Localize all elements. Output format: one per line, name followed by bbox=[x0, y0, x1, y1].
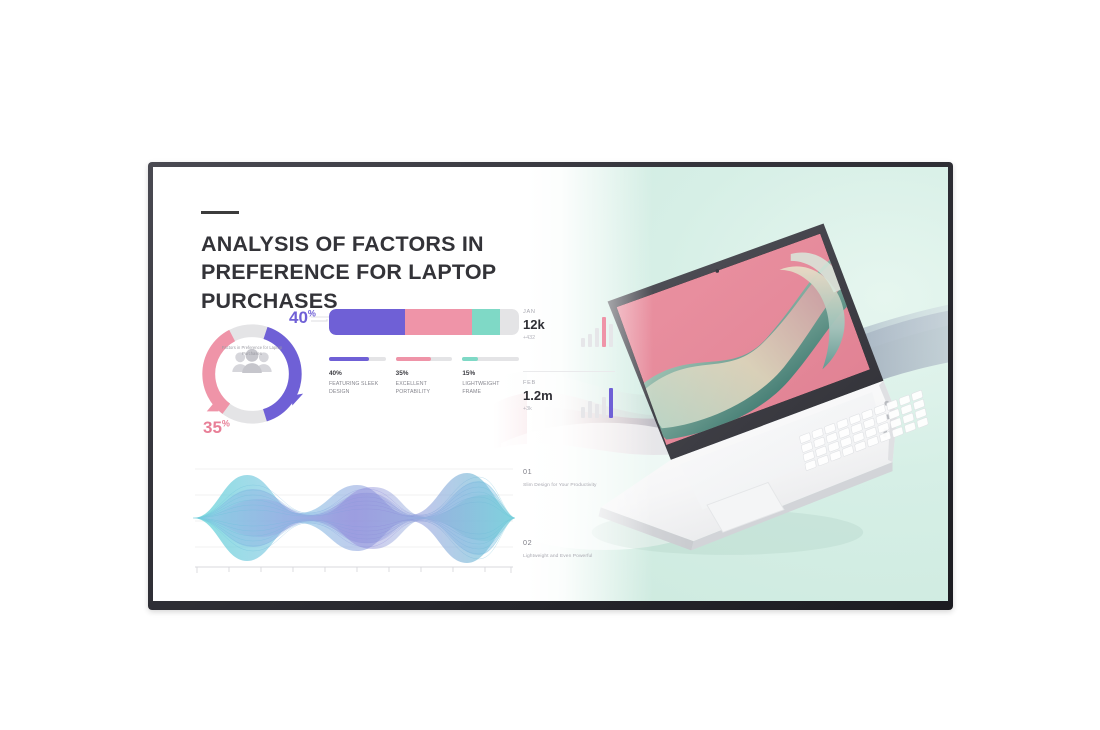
kpi-month: JAN bbox=[523, 309, 615, 315]
callout-40-value: 40 bbox=[289, 308, 308, 327]
legend-description: FEATURING SLEEK DESIGN bbox=[329, 380, 386, 396]
callout-35-percent: 35% bbox=[203, 419, 230, 436]
segmented-bar bbox=[329, 309, 519, 335]
list-item: 02 Lightweight and Even Powerful bbox=[523, 538, 619, 561]
kpi-month: FEB bbox=[523, 380, 615, 386]
wave-chart bbox=[189, 455, 519, 585]
kpi-column: JAN 12k +432 FEB 1.2m +3k bbox=[523, 309, 615, 438]
bar-segment-purple bbox=[329, 309, 405, 335]
spark-bar bbox=[609, 324, 614, 347]
legend-item: 40% FEATURING SLEEK DESIGN bbox=[329, 357, 386, 396]
chart-series-areas bbox=[193, 473, 515, 563]
item-number: 01 bbox=[523, 467, 619, 476]
segmented-bar-block: 40% FEATURING SLEEK DESIGN 35% EXCELLENT… bbox=[329, 309, 519, 396]
legend-track bbox=[462, 357, 519, 361]
spark-bar bbox=[602, 397, 607, 418]
feature-list: 01 Slim Design for Your Productivity 02 … bbox=[523, 467, 619, 601]
bar-segment-pink bbox=[405, 309, 472, 335]
spark-bar bbox=[581, 338, 586, 347]
bar-segment-gray bbox=[500, 309, 519, 335]
bar-segment-teal bbox=[472, 309, 501, 335]
legend-fill bbox=[329, 357, 369, 361]
spark-bar-highlight bbox=[609, 388, 614, 418]
callout-40-percent: 40% bbox=[289, 309, 316, 326]
legend-track bbox=[396, 357, 453, 361]
item-number: 02 bbox=[523, 538, 619, 547]
legend-item: 35% EXCELLENT PORTABILITY bbox=[396, 357, 453, 396]
donut-center-label: Factors in Preference for Laptop Purchas… bbox=[215, 345, 289, 357]
list-item: 01 Slim Design for Your Productivity bbox=[523, 467, 619, 490]
item-text: Slim Design for Your Productivity bbox=[523, 482, 619, 490]
callout-40-unit: % bbox=[308, 308, 316, 318]
legend-percent: 40% bbox=[329, 370, 386, 377]
donut-chart: Factors in Preference for Laptop Purchas… bbox=[193, 315, 311, 433]
kpi-divider bbox=[523, 371, 615, 372]
spark-bar bbox=[595, 328, 600, 347]
donut-center-label-wrap: Factors in Preference for Laptop Purchas… bbox=[215, 345, 289, 357]
spark-bar bbox=[588, 401, 593, 418]
legend-description: EXCELLENT PORTABILITY bbox=[396, 380, 453, 396]
legend-description: LIGHTWEIGHT FRAME bbox=[462, 380, 519, 396]
kpi-sparkline bbox=[581, 388, 614, 418]
kpi-sparkline bbox=[581, 317, 614, 347]
legend-fill bbox=[396, 357, 431, 361]
legend-track bbox=[329, 357, 386, 361]
title-rule bbox=[201, 211, 239, 214]
item-text: Lightweight and Even Powerful bbox=[523, 553, 619, 561]
callout-35-unit: % bbox=[222, 418, 230, 428]
spark-bar bbox=[595, 404, 600, 418]
spark-bar bbox=[581, 407, 586, 418]
kpi-card-feb: FEB 1.2m +3k bbox=[523, 380, 615, 438]
monitor-screen: ANALYSIS OF FACTORS IN PREFERENCE FOR LA… bbox=[153, 167, 948, 601]
spark-bar-highlight bbox=[602, 317, 607, 347]
chart-axis bbox=[195, 567, 513, 573]
legend-list: 40% FEATURING SLEEK DESIGN 35% EXCELLENT… bbox=[329, 357, 519, 396]
kpi-card-jan: JAN 12k +432 bbox=[523, 309, 615, 367]
callout-35-value: 35 bbox=[203, 418, 222, 437]
legend-fill bbox=[462, 357, 478, 361]
spark-bar bbox=[588, 334, 593, 348]
donut-svg bbox=[193, 315, 311, 433]
monitor-display: ANALYSIS OF FACTORS IN PREFERENCE FOR LA… bbox=[148, 162, 953, 610]
legend-item: 15% LIGHTWEIGHT FRAME bbox=[462, 357, 519, 396]
legend-percent: 15% bbox=[462, 370, 519, 377]
legend-percent: 35% bbox=[396, 370, 453, 377]
